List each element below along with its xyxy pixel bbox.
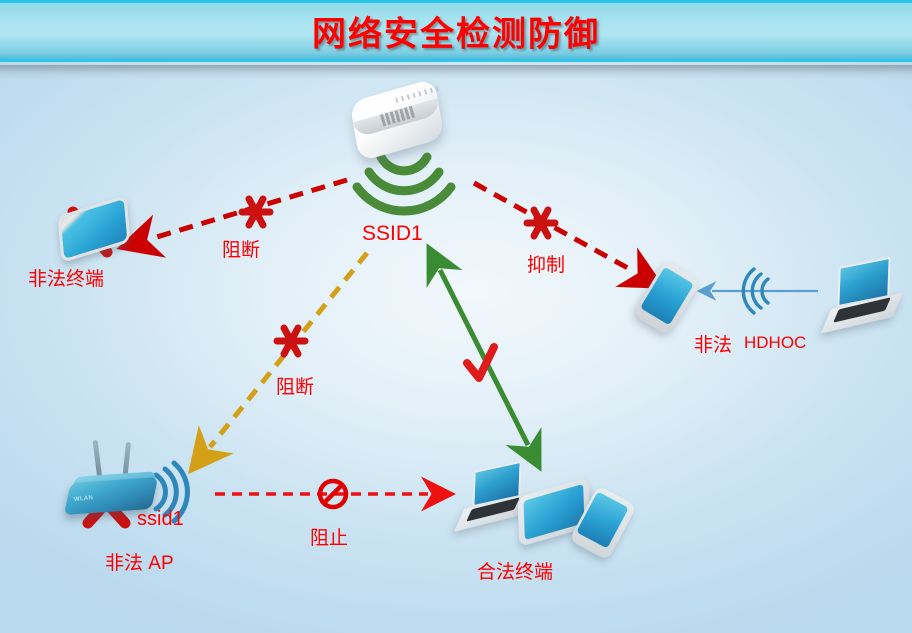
legit-terminals-label: 合法终端 — [477, 557, 553, 584]
red-check-icon — [467, 347, 494, 378]
page-title: 网络安全检测防御 — [0, 7, 912, 56]
wifi-waves-green-icon — [357, 157, 451, 211]
red-star-block-icon-2 — [527, 210, 555, 236]
rogue-ap-label: 非法 AP — [105, 548, 174, 575]
link-block-rogue-ap — [210, 253, 367, 447]
rogue-terminal-label: 非法终端 — [28, 264, 104, 291]
wifi-waves-blue-adhoc-icon — [743, 269, 768, 313]
link-label-block-rogue-terminal: 阻断 — [222, 235, 260, 262]
no-entry-icon — [320, 481, 346, 507]
ap-ssid-label: SSID1 — [362, 222, 423, 246]
legit-terminals-group[interactable] — [455, 466, 645, 548]
link-allow-legit-terminals — [440, 270, 528, 445]
rogue-ap-ssid-label: ssid1 — [137, 508, 184, 531]
link-label-suppress-rogue-adhoc: 抑制 — [527, 250, 565, 277]
link-label-prevent: 阻止 — [310, 523, 348, 550]
link-block-rogue-terminal — [150, 180, 347, 239]
network-security-diagram: 网络安全检测防御 — [0, 0, 912, 633]
tablet-screen — [58, 195, 131, 263]
wireless-access-point-icon[interactable] — [345, 86, 455, 148]
red-star-block-icon-1 — [242, 199, 270, 225]
red-star-block-icon-3 — [277, 328, 305, 354]
tablet-blocked-icon[interactable] — [52, 198, 138, 264]
laptop-icon[interactable] — [822, 262, 904, 334]
title-banner: 网络安全检测防御 — [0, 0, 912, 62]
link-label-block-rogue-ap: 阻断 — [276, 372, 314, 399]
smartphone-icon[interactable] — [638, 262, 708, 334]
rogue-adhoc-label-en: HDHOC — [744, 333, 806, 353]
rogue-adhoc-label-cn: 非法 — [694, 330, 732, 357]
